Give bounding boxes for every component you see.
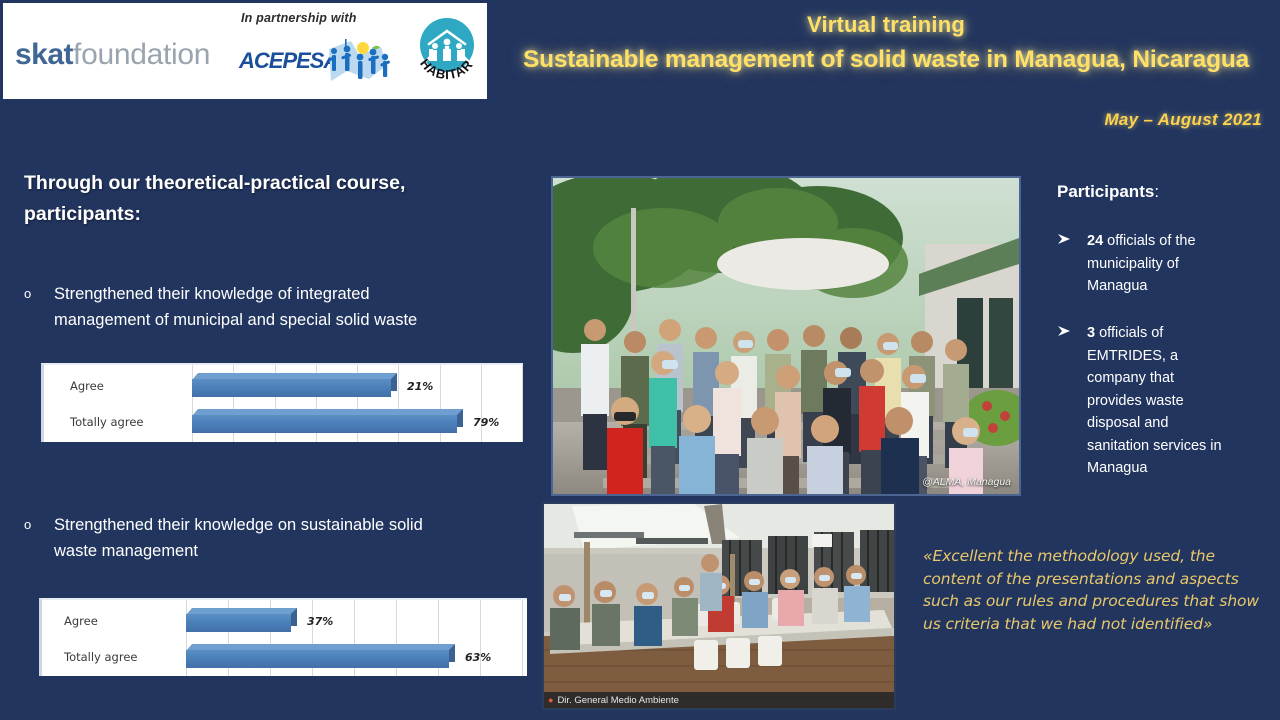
skat-logo-bold: skat: [15, 38, 73, 71]
chart-value-label: 63%: [465, 651, 491, 664]
chart-gridline: [522, 365, 523, 442]
participants-item-count: 3: [1087, 325, 1095, 341]
acepesa-people-icon: [325, 35, 395, 91]
page-title: Sustainable management of solid waste in…: [500, 46, 1272, 74]
chart-value-label: 21%: [407, 380, 433, 393]
participants-item-text: 3 officials of EMTRIDES, a company that …: [1087, 322, 1229, 480]
chart-plot-area: Agree21%Totally agree79%: [44, 365, 523, 442]
bullet-marker-icon: o: [24, 281, 31, 307]
skat-foundation-logo: skatfoundation: [15, 39, 210, 71]
list-item-line-2: waste management: [54, 538, 524, 564]
participants-heading-colon: :: [1154, 182, 1159, 201]
list-item-text: Strengthened their knowledge of integrat…: [54, 281, 524, 333]
participants-item-desc: officials of EMTRIDES, a company that pr…: [1087, 325, 1222, 476]
participants-item: 3 officials of EMTRIDES, a company that …: [1057, 322, 1229, 480]
list-item-line-1: Strengthened their knowledge on sustaina…: [54, 516, 423, 534]
chart-bar: [192, 373, 397, 397]
header-eyebrow: Virtual training: [500, 12, 1272, 38]
chart-plot-area: Agree37%Totally agree63%: [42, 600, 527, 676]
chart-gridline: [522, 600, 523, 676]
bar-chart-sustainable-management: Agree37%Totally agree63%: [39, 598, 527, 676]
logo-bar: In partnership with skatfoundation ACEPE…: [3, 3, 487, 99]
meeting-photo-image: [544, 504, 894, 708]
chart-bar: [186, 644, 455, 668]
chart-gridline: [481, 365, 482, 442]
participants-item-desc: officials of the municipality of Managua: [1087, 233, 1196, 294]
video-participant-name: Dir. General Medio Ambiente: [557, 695, 678, 706]
participants-heading-text: Participants: [1057, 182, 1154, 201]
acepesa-logo-text: ACEPESA: [239, 48, 338, 74]
list-item: o Strengthened their knowledge of integr…: [24, 281, 524, 333]
participants-item-text: 24 officials of the municipality of Mana…: [1087, 230, 1229, 298]
microphone-icon: ●: [548, 695, 553, 705]
header-date: May – August 2021: [1104, 110, 1262, 130]
header-title-block: Virtual training Sustainable management …: [500, 12, 1272, 74]
list-item-text: Strengthened their knowledge on sustaina…: [54, 512, 524, 564]
participants-heading: Participants:: [1057, 182, 1159, 202]
chart-value-label: 37%: [307, 615, 333, 628]
chart-category-label: Agree: [64, 614, 98, 628]
group-photo-caption: @ALMA, Managua: [922, 476, 1011, 488]
chart-gridline: [480, 600, 481, 676]
partnership-label: In partnership with: [241, 11, 357, 25]
skat-logo-light: foundation: [73, 38, 210, 71]
slide-root: In partnership with skatfoundation ACEPE…: [0, 0, 1280, 720]
participants-item: 24 officials of the municipality of Mana…: [1057, 230, 1229, 298]
arrowhead-bullet-icon: [1057, 323, 1073, 339]
lead-line-2: participants:: [24, 199, 524, 230]
bar-chart-integrated-management: Agree21%Totally agree79%: [41, 363, 523, 442]
acepesa-logo: ACEPESA: [239, 39, 389, 94]
chart-bar: [186, 608, 297, 632]
group-photo-image: [553, 178, 1019, 494]
habitar-logo: HABITAR: [412, 15, 482, 87]
chart-category-label: Agree: [70, 379, 104, 393]
list-item-line-2: management of municipal and special soli…: [54, 307, 524, 333]
testimonial-quote: «Excellent the methodology used, the con…: [923, 545, 1263, 635]
meeting-photo: ● Dir. General Medio Ambiente: [542, 502, 896, 710]
video-participant-label: ● Dir. General Medio Ambiente: [544, 692, 894, 708]
lead-line-1: Through our theoretical-practical course…: [24, 172, 405, 194]
chart-value-label: 79%: [473, 416, 499, 429]
chart-category-label: Totally agree: [70, 415, 144, 429]
bullet-marker-icon: o: [24, 512, 31, 538]
list-item-line-1: Strengthened their knowledge of integrat…: [54, 285, 370, 303]
chart-bar: [192, 409, 463, 433]
chart-category-label: Totally agree: [64, 650, 138, 664]
list-item: o Strengthened their knowledge on sustai…: [24, 512, 524, 564]
arrowhead-bullet-icon: [1057, 231, 1073, 247]
group-photo: @ALMA, Managua: [551, 176, 1021, 496]
lead-paragraph: Through our theoretical-practical course…: [24, 168, 524, 230]
participants-item-count: 24: [1087, 233, 1103, 249]
